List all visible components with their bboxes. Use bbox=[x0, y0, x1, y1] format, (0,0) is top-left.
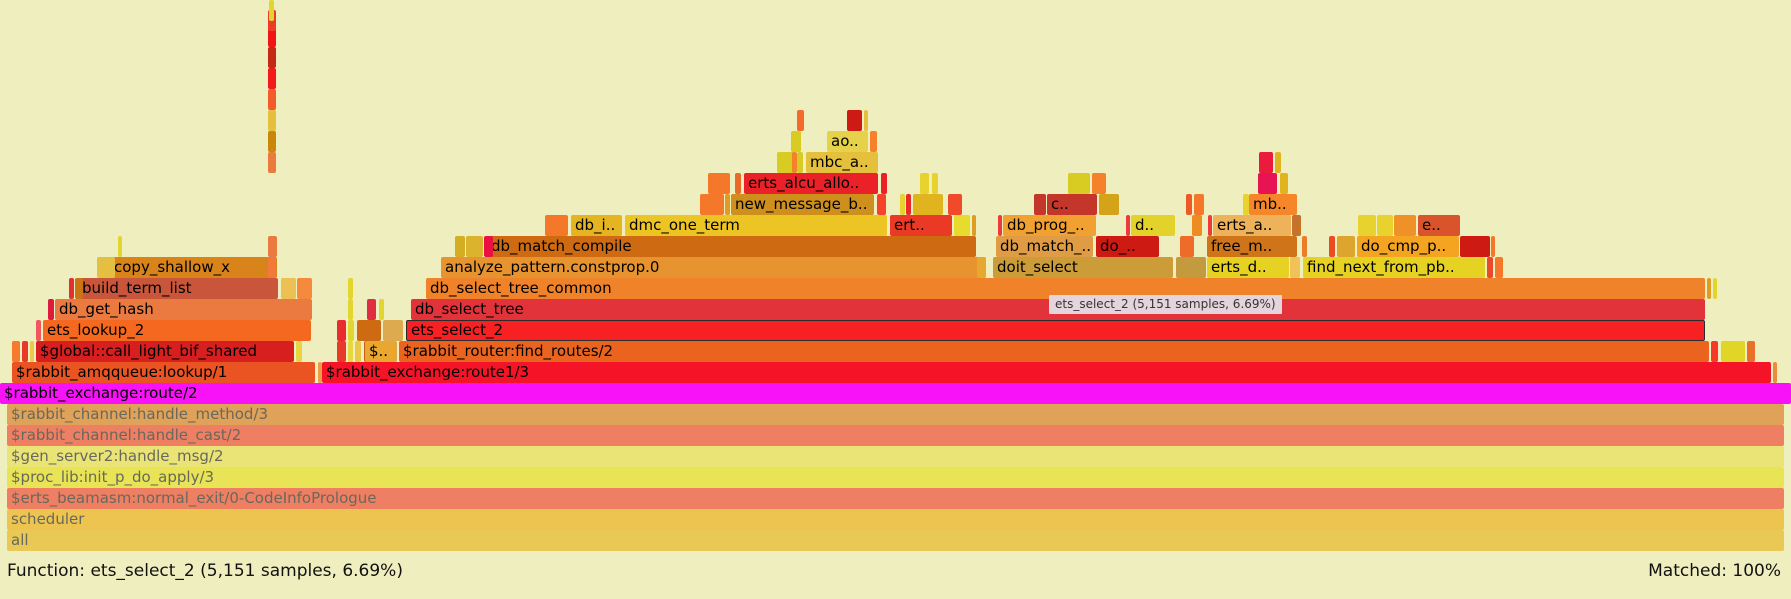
flame-frame-build-term-list[interactable]: build_term_list bbox=[78, 278, 278, 299]
flame-frame-unlabeled[interactable] bbox=[1092, 173, 1106, 194]
flame-frame-unlabeled[interactable] bbox=[725, 194, 730, 215]
flame-frame-unlabeled[interactable] bbox=[48, 299, 54, 320]
flame-frame-ets-select-2[interactable]: ets_select_2 bbox=[406, 320, 1705, 341]
flame-frame-unlabeled[interactable] bbox=[379, 299, 384, 320]
flame-frame-unlabeled[interactable] bbox=[1337, 236, 1355, 257]
flame-frame-mbc-a[interactable]: mbc_a.. bbox=[806, 152, 878, 173]
flame-frame-unlabeled[interactable] bbox=[1302, 236, 1307, 257]
flame-frame-unlabeled[interactable] bbox=[1068, 173, 1090, 194]
flame-frame-rabbit-exchange-route-2[interactable]: $rabbit_exchange:route/2 bbox=[0, 383, 1791, 404]
flame-frame-unlabeled[interactable] bbox=[1194, 194, 1204, 215]
flame-frame-unlabeled[interactable] bbox=[337, 341, 346, 362]
flame-frame-unlabeled[interactable] bbox=[75, 278, 83, 299]
flame-frame-unlabeled[interactable] bbox=[1180, 236, 1194, 257]
flame-frame-unlabeled[interactable] bbox=[791, 131, 801, 152]
flame-frame-unlabeled[interactable] bbox=[69, 278, 74, 299]
frame-tooltip: ets_select_2 (5,151 samples, 6.69%) bbox=[1049, 295, 1282, 314]
flame-frame-unlabeled[interactable] bbox=[913, 194, 943, 215]
flame-frame-unlabeled[interactable] bbox=[22, 341, 28, 362]
flame-frame-erts-alcu-allo[interactable]: erts_alcu_allo.. bbox=[744, 173, 878, 194]
flame-frame-unlabeled[interactable] bbox=[268, 257, 276, 278]
flame-frame-unlabeled[interactable] bbox=[1034, 194, 1046, 215]
flame-frame-dmc-one-term[interactable]: dmc_one_term bbox=[625, 215, 887, 236]
flame-frame-unlabeled[interactable] bbox=[900, 194, 905, 215]
flame-frame-rabbit-exchange-route1-3[interactable]: $rabbit_exchange:route1/3 bbox=[322, 362, 1771, 383]
flame-frame-unlabeled[interactable] bbox=[484, 236, 493, 257]
flame-frame-rabbit-amqqueue-lookup-1[interactable]: $rabbit_amqqueue:lookup/1 bbox=[12, 362, 315, 383]
flame-frame-free-m[interactable]: free_m.. bbox=[1207, 236, 1297, 257]
flame-frame-db-prog[interactable]: db_prog_.. bbox=[1003, 215, 1096, 236]
flame-frame-db-i[interactable]: db_i.. bbox=[571, 215, 622, 236]
flame-frame-unlabeled[interactable] bbox=[268, 68, 276, 89]
flame-frame-ert[interactable]: ert.. bbox=[890, 215, 952, 236]
flame-frame-unlabeled[interactable] bbox=[1259, 152, 1273, 173]
flame-frame-unlabeled[interactable] bbox=[700, 194, 724, 215]
flame-frame-unlabeled[interactable] bbox=[954, 215, 970, 236]
flame-frame-e[interactable]: e.. bbox=[1418, 215, 1460, 236]
flame-frame-unlabeled[interactable] bbox=[972, 215, 976, 236]
flame-frame-unlabeled[interactable] bbox=[348, 299, 353, 320]
flame-frame-unlabeled[interactable] bbox=[786, 152, 790, 173]
flame-frame-[interactable]: $.. bbox=[365, 341, 395, 362]
flame-frame-unlabeled[interactable] bbox=[1208, 215, 1212, 236]
flame-frame-db-match[interactable]: db_match_.. bbox=[996, 236, 1093, 257]
flame-frame-unlabeled[interactable] bbox=[545, 215, 568, 236]
flame-frame-erts-a[interactable]: erts_a.. bbox=[1213, 215, 1291, 236]
flame-frame-erts-d[interactable]: erts_d.. bbox=[1207, 257, 1289, 278]
flame-frame-unlabeled[interactable] bbox=[348, 278, 353, 299]
flame-frame-unlabeled[interactable] bbox=[297, 278, 312, 299]
flame-frame-unlabeled[interactable] bbox=[1358, 215, 1376, 236]
flame-frame-unlabeled[interactable] bbox=[1329, 236, 1335, 257]
flame-frame-db-get-hash[interactable]: db_get_hash bbox=[55, 299, 312, 320]
flame-frame-unlabeled[interactable] bbox=[367, 299, 376, 320]
flame-frame-unlabeled[interactable] bbox=[1713, 278, 1717, 299]
flame-frame-unlabeled[interactable] bbox=[1491, 236, 1495, 257]
flame-frame-unlabeled[interactable] bbox=[881, 173, 887, 194]
status-matched-label: Matched: 100% bbox=[1648, 561, 1781, 581]
flame-frame-unlabeled[interactable] bbox=[1487, 257, 1493, 278]
flame-frame-find-next-from-pb[interactable]: find_next_from_pb.. bbox=[1303, 257, 1485, 278]
flame-frame-unlabeled[interactable] bbox=[1707, 278, 1711, 299]
flame-frame-do-cmp-p[interactable]: do_cmp_p.. bbox=[1357, 236, 1459, 257]
flame-frame-unlabeled[interactable] bbox=[977, 257, 986, 278]
flame-frame-unlabeled[interactable] bbox=[268, 236, 277, 257]
flame-frame-unlabeled[interactable] bbox=[1099, 194, 1119, 215]
flame-frame-erts-beamasm-normal-exit-0-codeinfoprologue[interactable]: $erts_beamasm:normal_exit/0-CodeInfoProl… bbox=[7, 488, 1784, 509]
flame-frame-unlabeled[interactable] bbox=[268, 131, 276, 152]
flame-frame-unlabeled[interactable] bbox=[1126, 215, 1130, 236]
flame-frame-unlabeled[interactable] bbox=[1460, 236, 1490, 257]
flame-frame-unlabeled[interactable] bbox=[1176, 257, 1206, 278]
flame-frame-unlabeled[interactable] bbox=[932, 173, 938, 194]
flame-frame-new-message-b[interactable]: new_message_b.. bbox=[731, 194, 874, 215]
flame-frame-unlabeled[interactable] bbox=[792, 152, 797, 173]
flame-frame-unlabeled[interactable] bbox=[30, 341, 34, 362]
flame-frame-db-match-compile[interactable]: db_match_compile bbox=[487, 236, 976, 257]
flame-frame-unlabeled[interactable] bbox=[1747, 341, 1755, 362]
flame-frame-unlabeled[interactable] bbox=[870, 131, 877, 152]
flame-frame-rabbit-channel-handle-method-3[interactable]: $rabbit_channel:handle_method/3 bbox=[7, 404, 1784, 425]
flame-frame-unlabeled[interactable] bbox=[906, 194, 911, 215]
flame-frame-unlabeled[interactable] bbox=[1773, 362, 1777, 383]
flame-frame-unlabeled[interactable] bbox=[708, 173, 730, 194]
flame-frame-unlabeled[interactable] bbox=[1711, 341, 1718, 362]
flame-frame-unlabeled[interactable] bbox=[36, 320, 41, 341]
flame-frame-unlabeled[interactable] bbox=[1290, 257, 1300, 278]
flame-frame-c[interactable]: c.. bbox=[1047, 194, 1097, 215]
flame-frame-unlabeled[interactable] bbox=[864, 110, 868, 131]
flame-frame-unlabeled[interactable] bbox=[268, 110, 276, 131]
flame-frame-unlabeled[interactable] bbox=[998, 215, 1002, 236]
flame-frame-unlabeled[interactable] bbox=[357, 320, 381, 341]
flamegraph-canvas[interactable]: allscheduler$erts_beamasm:normal_exit/0-… bbox=[0, 0, 1791, 551]
flame-frame-unlabeled[interactable] bbox=[1721, 341, 1745, 362]
flame-frame-unlabeled[interactable] bbox=[1394, 215, 1416, 236]
flame-frame-unlabeled[interactable] bbox=[355, 341, 361, 362]
flame-frame-d[interactable]: d.. bbox=[1131, 215, 1175, 236]
flame-frame-gen-server2-handle-msg-2[interactable]: $gen_server2:handle_msg/2 bbox=[7, 446, 1784, 467]
flame-frame-unlabeled[interactable] bbox=[268, 47, 276, 68]
flame-frame-unlabeled[interactable] bbox=[1280, 173, 1288, 194]
flame-frame-unlabeled[interactable] bbox=[1258, 173, 1277, 194]
flame-frame-unlabeled[interactable] bbox=[12, 341, 20, 362]
flame-frame-ao[interactable]: ao.. bbox=[827, 131, 868, 152]
flame-frame-unlabeled[interactable] bbox=[1275, 152, 1281, 173]
status-bar: Function: ets_select_2 (5,151 samples, 6… bbox=[0, 551, 1791, 599]
flame-frame-unlabeled[interactable] bbox=[847, 110, 862, 131]
flame-frame-unlabeled[interactable] bbox=[1243, 194, 1249, 215]
flame-frame-unlabeled[interactable] bbox=[920, 173, 929, 194]
flame-frame-do[interactable]: do_.. bbox=[1096, 236, 1159, 257]
flame-frame-ets-lookup-2[interactable]: ets_lookup_2 bbox=[43, 320, 311, 341]
flame-frame-unlabeled[interactable] bbox=[466, 236, 483, 257]
flame-frame-unlabeled[interactable] bbox=[1377, 215, 1393, 236]
flame-frame-unlabeled[interactable] bbox=[269, 0, 274, 21]
flame-frame-unlabeled[interactable] bbox=[948, 194, 962, 215]
flame-frame-unlabeled[interactable] bbox=[797, 110, 804, 131]
status-function-label: Function: ets_select_2 (5,151 samples, 6… bbox=[7, 561, 403, 581]
flame-frame-unlabeled[interactable] bbox=[877, 194, 886, 215]
flame-frame-proc-lib-init-p-do-apply-3[interactable]: $proc_lib:init_p_do_apply/3 bbox=[7, 467, 1784, 488]
flame-frame-unlabeled[interactable] bbox=[1186, 194, 1192, 215]
flame-frame-all[interactable]: all bbox=[7, 530, 1784, 551]
flame-frame-unlabeled[interactable] bbox=[1495, 257, 1503, 278]
flame-frame-global-call-light-bif-shared[interactable]: $global::call_light_bif_shared bbox=[36, 341, 294, 362]
flame-frame-unlabeled[interactable] bbox=[1292, 215, 1301, 236]
flame-frame-unlabeled[interactable] bbox=[281, 278, 296, 299]
flame-frame-unlabeled[interactable] bbox=[455, 236, 465, 257]
flame-frame-copy-shallow-x[interactable]: copy_shallow_x bbox=[110, 257, 277, 278]
flame-frame-mb[interactable]: mb.. bbox=[1249, 194, 1297, 215]
flame-frame-unlabeled[interactable] bbox=[1192, 215, 1202, 236]
flame-frame-unlabeled[interactable] bbox=[735, 173, 741, 194]
flame-frame-unlabeled[interactable] bbox=[97, 257, 115, 278]
flame-frame-unlabeled[interactable] bbox=[337, 320, 346, 341]
flame-frame-doit-select[interactable]: doit_select bbox=[993, 257, 1173, 278]
flame-frame-unlabeled[interactable] bbox=[348, 320, 354, 341]
flame-frame-scheduler[interactable]: scheduler bbox=[7, 509, 1784, 530]
flame-frame-rabbit-channel-handle-cast-2[interactable]: $rabbit_channel:handle_cast/2 bbox=[7, 425, 1784, 446]
flame-frame-rabbit-router-find-routes-2[interactable]: $rabbit_router:find_routes/2 bbox=[399, 341, 1709, 362]
flame-frame-unlabeled[interactable] bbox=[348, 341, 353, 362]
flame-frame-unlabeled[interactable] bbox=[383, 320, 403, 341]
flame-frame-analyze-pattern-constprop-0[interactable]: analyze_pattern.constprop.0 bbox=[441, 257, 986, 278]
flame-frame-unlabeled[interactable] bbox=[118, 236, 122, 257]
flame-frame-unlabeled[interactable] bbox=[268, 152, 276, 173]
flame-frame-unlabeled[interactable] bbox=[268, 89, 276, 110]
flame-frame-unlabeled[interactable] bbox=[797, 152, 803, 173]
flame-frame-unlabeled[interactable] bbox=[296, 341, 302, 362]
